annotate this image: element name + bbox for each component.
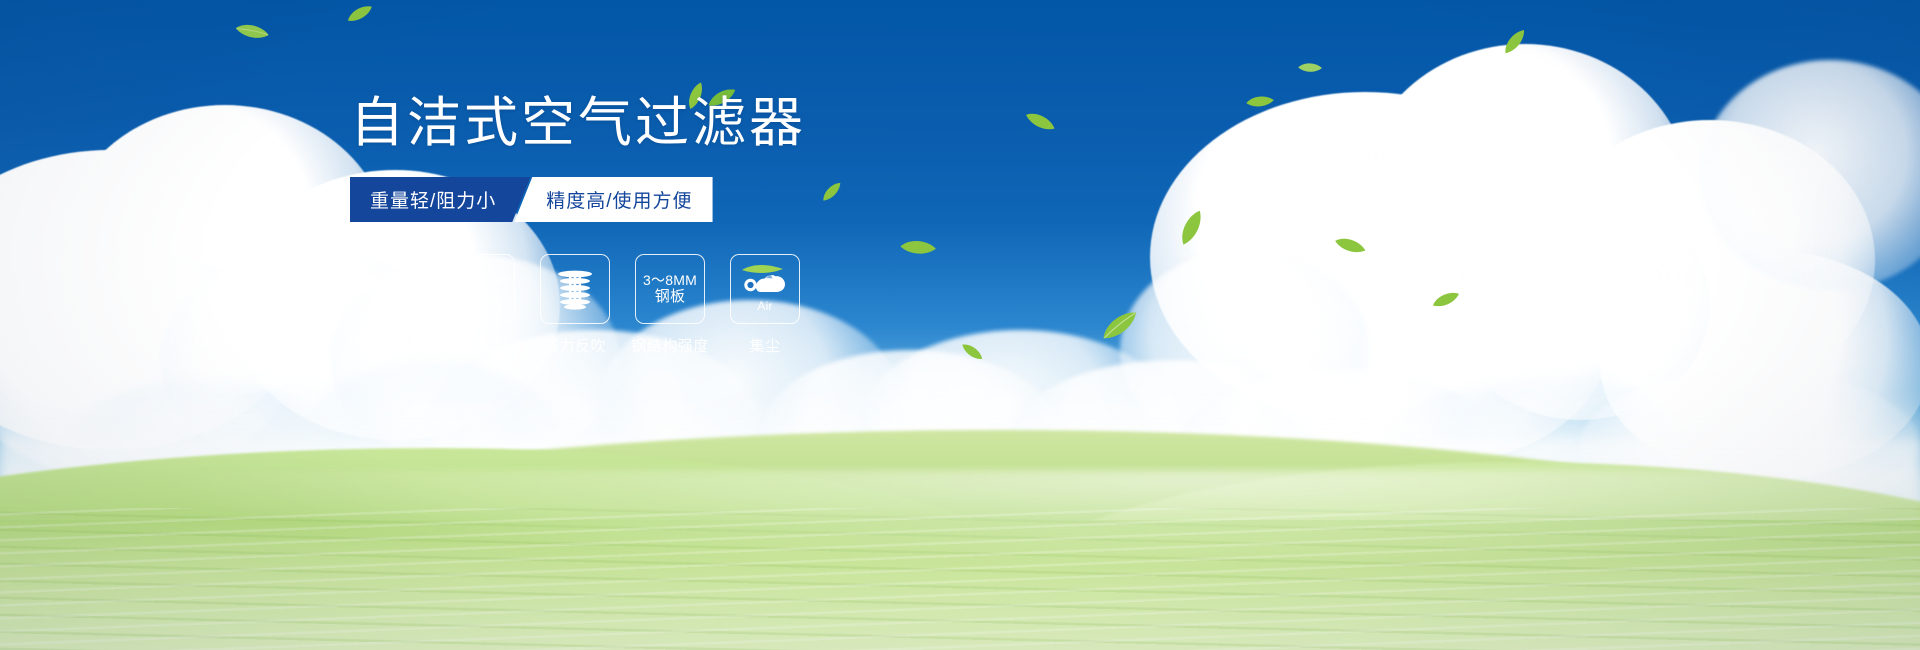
feature-value-line2: 钢板: [655, 288, 685, 306]
field-glow: [0, 470, 1920, 580]
leaf-icon: [1245, 93, 1275, 112]
feature-caption: 二级过滤: [449, 335, 511, 356]
leaf-icon: [1332, 230, 1367, 261]
feature-caption: 控制仪: [362, 335, 409, 356]
cloud-shape: [1120, 250, 1370, 450]
banner-content: 自洁式空气过滤器 重量轻/阻力小 精度高/使用方便: [350, 96, 910, 356]
feature-icon-box: NO OFF: [350, 254, 420, 324]
cloud-shape: [1360, 44, 1690, 344]
leaf-icon: [233, 17, 271, 48]
tab-strip: 重量轻/阻力小 精度高/使用方便: [350, 177, 910, 222]
leaf-icon: [1172, 208, 1212, 249]
gauge-dial-icon: NO OFF: [359, 266, 411, 312]
feature-item[interactable]: Air 集尘: [730, 254, 800, 356]
tab-precision-convenience[interactable]: 精度高/使用方便: [514, 177, 712, 222]
air-cloud-icon: [739, 264, 791, 298]
feature-icon-box: [540, 254, 610, 324]
feature-caption: 强力反吹: [544, 335, 606, 356]
hero-banner: 自洁式空气过滤器 重量轻/阻力小 精度高/使用方便: [0, 0, 1920, 650]
feature-item[interactable]: NO OFF 控制仪: [350, 254, 420, 356]
feature-item[interactable]: 0.6～0.8 MPA 二级过滤: [445, 254, 515, 356]
leaf-icon: [1097, 308, 1144, 343]
feature-value-line1: 3～8MM: [643, 272, 697, 289]
feature-icon-box: 3～8MM 钢板: [635, 254, 705, 324]
cloud-shape: [1450, 190, 1710, 420]
feature-icon-box: 0.6～0.8 MPA: [445, 254, 515, 324]
cloud-shape: [0, 150, 310, 450]
leaf-icon: [1297, 59, 1324, 78]
svg-text:OFF: OFF: [391, 304, 404, 311]
feature-value-line2: Air: [757, 299, 772, 313]
page-title: 自洁式空气过滤器: [350, 96, 910, 150]
feature-icon-box: Air: [730, 254, 800, 324]
cloud-shape: [1150, 92, 1580, 422]
feature-item[interactable]: 强力反吹: [540, 254, 610, 356]
feature-value-line2: MPA: [465, 289, 495, 306]
leaf-icon: [959, 338, 984, 365]
feature-value-line1: 0.6～0.8: [453, 272, 507, 289]
leaf-icon: [1498, 27, 1531, 56]
feature-list: NO OFF 控制仪 0.6～0.8 MPA 二级过滤: [350, 254, 910, 356]
filter-cartridge-icon: [551, 265, 599, 313]
leaf-icon: [1431, 291, 1462, 309]
feature-item[interactable]: 3～8MM 钢板 钢结构强度: [635, 254, 705, 356]
leaf-icon: [345, 4, 376, 24]
tab-weight-resistance[interactable]: 重量轻/阻力小: [350, 177, 530, 222]
feature-caption: 集尘: [749, 335, 780, 356]
cloud-shape: [1545, 120, 1875, 400]
cloud-shape: [60, 105, 390, 395]
cloud-shape: [1700, 60, 1920, 290]
cloud-shape: [1250, 215, 1610, 465]
feature-caption: 钢结构强度: [631, 335, 709, 356]
leaf-icon: [1023, 105, 1057, 138]
